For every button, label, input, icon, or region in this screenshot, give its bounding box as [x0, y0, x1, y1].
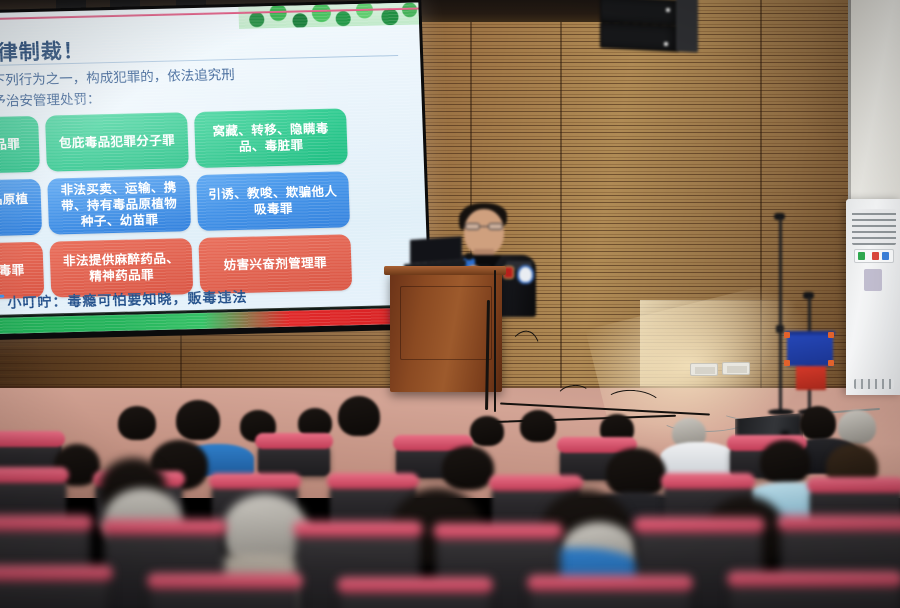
- case-corner-icon: [828, 360, 834, 366]
- crime-cell: 窝藏、转移、隐瞒毒品、毒脏罪: [194, 108, 348, 168]
- audience-head: [118, 406, 156, 440]
- ac-led-icon: [882, 252, 889, 260]
- seat: [340, 582, 490, 608]
- audience-head: [760, 440, 810, 484]
- case-corner-icon: [784, 360, 790, 366]
- slide-tip-text: 小叮咛：毒瘾可怕要知晓，贩毒违法: [7, 287, 248, 313]
- ac-grille-icon: [852, 209, 896, 245]
- wall-power-socket: [690, 363, 718, 376]
- audience-person: [660, 442, 736, 476]
- crime-row-blue: 制罪 非法种植毒品原植物罪 非法买卖、运输、携带、持有毒品原植物种子、幼苗罪 引…: [0, 171, 367, 240]
- leaf-decoration-icon: [238, 3, 419, 29]
- ac-sticker: [864, 269, 882, 291]
- blue-equipment-case: [787, 334, 833, 366]
- line-array-speaker: [600, 0, 696, 56]
- audience-head: [470, 416, 504, 446]
- wall-power-socket: [722, 362, 750, 375]
- police-emblem-icon: [517, 265, 534, 284]
- audience-head: [442, 446, 494, 490]
- ac-led-icon: [858, 252, 865, 260]
- crime-row-green: 制 非法持有毒品罪 包庇毒品犯罪分子罪 窝藏、转移、隐瞒毒品、毒脏罪: [0, 108, 365, 177]
- podium-top: [384, 266, 506, 275]
- seat: [730, 576, 900, 608]
- presentation-slide: 毒会受到法律制裁！ 共和国禁毒法》有下列行为之一，构成犯罪的，依法追究刑 成犯罪…: [0, 3, 429, 337]
- crime-list-grid: 制 非法持有毒品罪 包庇毒品犯罪分子罪 窝藏、转移、隐瞒毒品、毒脏罪 制罪 非法…: [0, 108, 370, 310]
- crime-cell: 非法种植毒品原植物罪: [0, 179, 42, 238]
- seat: [150, 578, 300, 608]
- ac-bottom-vent: [854, 379, 894, 389]
- case-corner-icon: [784, 332, 790, 338]
- slide-subtitle: 共和国禁毒法》有下列行为之一，构成犯罪的，依法追究刑 成犯罪的，依法给予治安管理…: [0, 61, 405, 116]
- case-corner-icon: [828, 332, 834, 338]
- audience-head: [606, 448, 666, 498]
- audience-head: [838, 410, 876, 444]
- audience-head: [176, 400, 220, 440]
- audience: [0, 392, 900, 608]
- audience-head: [338, 396, 380, 436]
- crime-cell: 引诱、教唆、欺骗他人吸毒罪: [196, 171, 350, 231]
- seat: [0, 570, 110, 608]
- seat: [258, 438, 330, 476]
- projection-screen: 毒会受到法律制裁！ 共和国禁毒法》有下列行为之一，构成犯罪的，依法追究刑 成犯罪…: [0, 0, 433, 343]
- microphone-stand: [768, 213, 798, 413]
- red-equipment-case: [796, 364, 826, 390]
- crime-cell: 非法买卖、运输、携带、持有毒品原植物种子、幼苗罪: [47, 175, 191, 234]
- seat: [530, 580, 690, 608]
- standing-air-conditioner: [846, 199, 900, 395]
- microphone-cable: [494, 270, 496, 412]
- eyeglasses-icon: [465, 223, 503, 230]
- ac-led-icon: [872, 252, 879, 260]
- crime-cell: 包庇毒品犯罪分子罪: [45, 112, 189, 171]
- lecture-hall-photo: 毒会受到法律制裁！ 共和国禁毒法》有下列行为之一，构成犯罪的，依法追究刑 成犯罪…: [0, 0, 900, 608]
- crime-cell: 非法持有毒品罪: [0, 116, 40, 175]
- audience-head: [800, 406, 836, 440]
- audience-head: [520, 410, 556, 442]
